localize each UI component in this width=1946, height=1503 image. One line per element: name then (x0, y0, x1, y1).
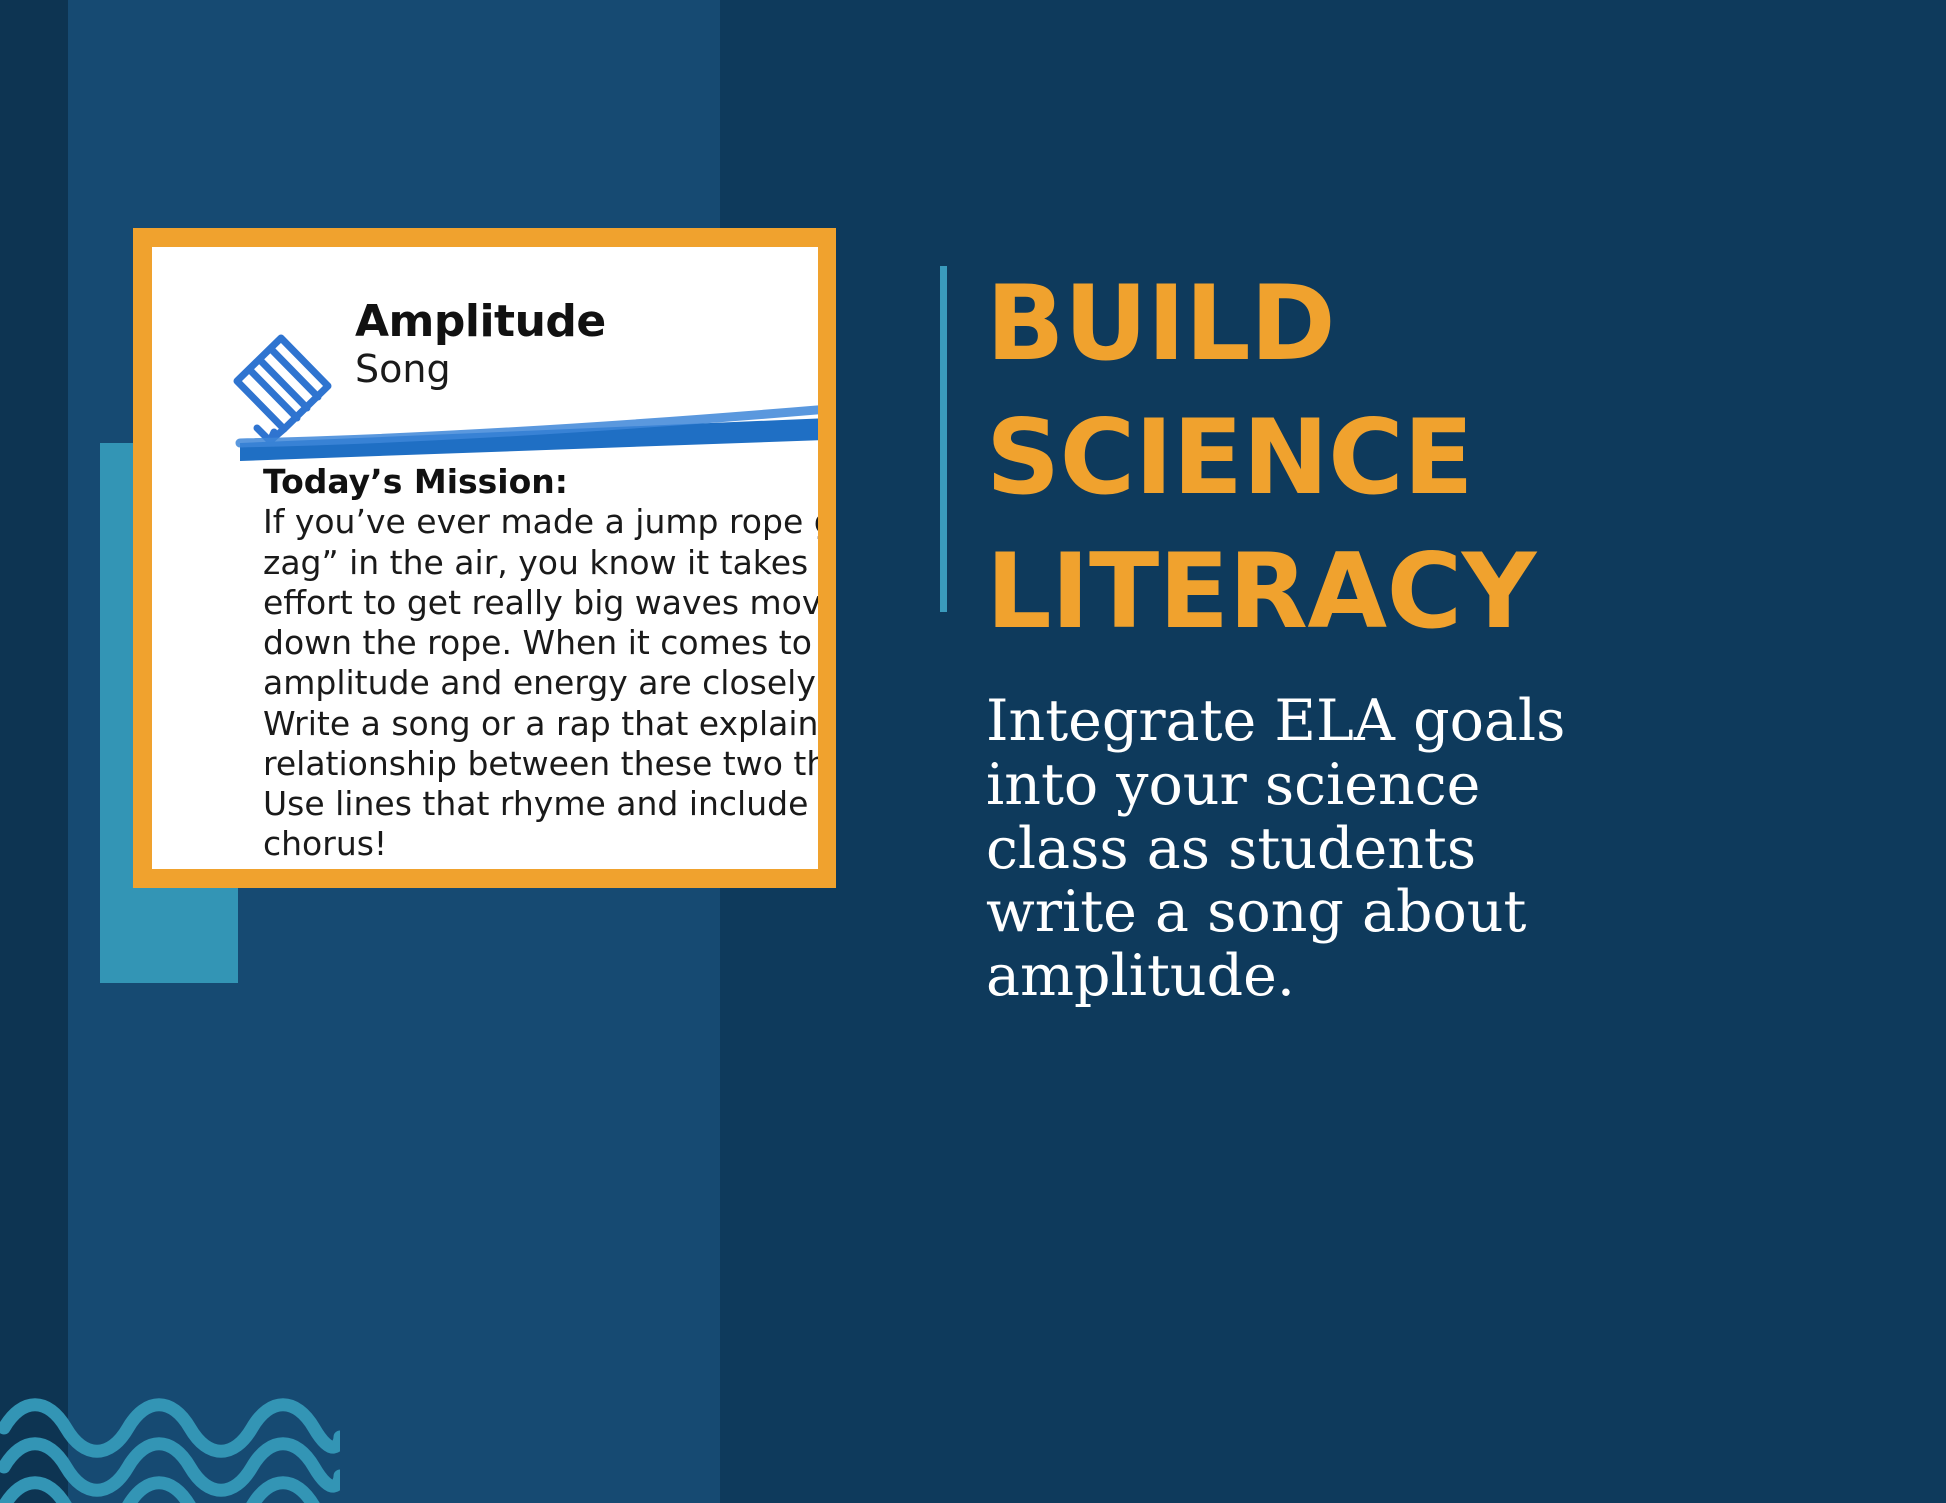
mission-line: Use lines that rhyme and include a (263, 784, 818, 824)
mission-line: amplitude and energy are closely (263, 663, 818, 703)
card-title: Amplitude (230, 299, 818, 345)
headline-line: SCIENCE (986, 392, 1900, 526)
subcopy-line: Integrate ELA goals (986, 690, 1586, 754)
subcopy-line: class as students (986, 818, 1586, 882)
card-subtitle: Song (230, 345, 818, 392)
subcopy: Integrate ELA goals into your science cl… (986, 690, 1586, 1009)
headline-group: BUILD SCIENCE LITERACY (940, 258, 1900, 660)
mission-line: relationship between these two th (263, 744, 818, 784)
mission-heading: Today’s Mission: (263, 462, 818, 502)
mission-line: zag” in the air, you know it takes a (263, 543, 818, 583)
subcopy-line: amplitude. (986, 945, 1586, 1009)
headline: BUILD SCIENCE LITERACY (986, 258, 1900, 660)
card-heading-group: Amplitude Song (230, 299, 818, 391)
subcopy-line: write a song about (986, 881, 1586, 945)
vertical-accent-line (940, 266, 947, 612)
worksheet-card: Amplitude Song Today’s Mission: If you’v… (133, 228, 836, 888)
right-column: BUILD SCIENCE LITERACY (940, 258, 1900, 660)
mission-line: If you’ve ever made a jump rope g (263, 502, 818, 542)
mission-line: chorus! (263, 824, 818, 864)
mission-block: Today’s Mission: If you’ve ever made a j… (263, 462, 818, 865)
headline-line: LITERACY (986, 526, 1900, 660)
wave-lines-icon (0, 1385, 340, 1503)
mission-line: Write a song or a rap that explains (263, 704, 818, 744)
subcopy-line: into your science (986, 754, 1586, 818)
worksheet-card-inner: Amplitude Song Today’s Mission: If you’v… (152, 247, 818, 869)
mission-body: If you’ve ever made a jump rope g zag” i… (263, 502, 818, 864)
headline-line: BUILD (986, 258, 1900, 392)
mission-line: down the rope. When it comes to (263, 623, 818, 663)
background-left-strip (0, 0, 68, 1503)
mission-line: effort to get really big waves mov (263, 583, 818, 623)
